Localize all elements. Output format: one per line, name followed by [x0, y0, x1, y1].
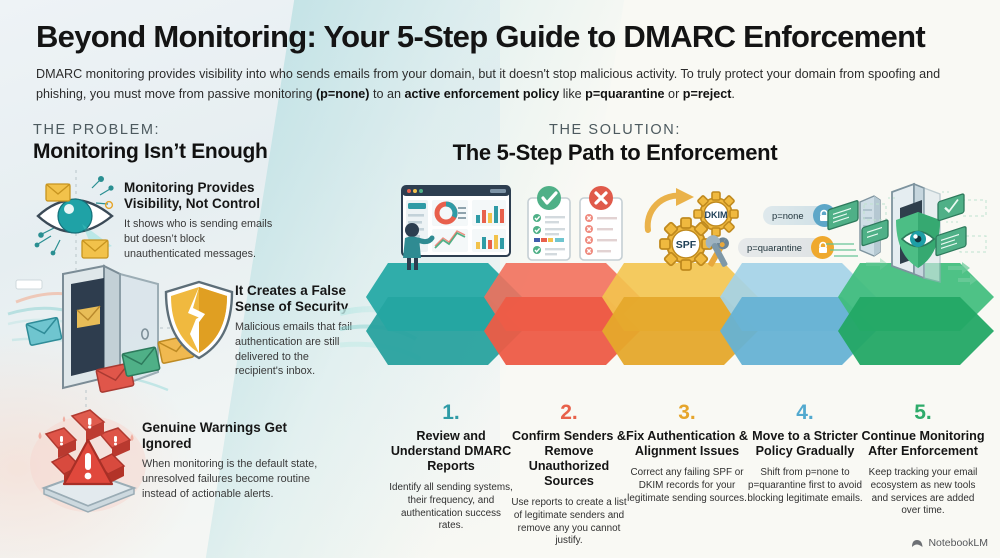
step-2-title: Confirm Senders & Remove Unauthorized So… — [507, 429, 631, 489]
shield-eye-gateway-icon — [862, 178, 994, 286]
page-subtitle: DMARC monitoring provides visibility int… — [36, 65, 966, 104]
header: Beyond Monitoring: Your 5-Step Guide to … — [36, 20, 966, 104]
problem-item-2-title: It Creates a False Sense of Security — [235, 283, 355, 316]
step-4: 4. Move to a Stricter Policy Gradually S… — [743, 402, 867, 505]
infographic-canvas: Beyond Monitoring: Your 5-Step Guide to … — [0, 0, 1000, 558]
step-2-desc: Use reports to create a list of legitima… — [507, 497, 631, 548]
step-1-title: Review and Understand DMARC Reports — [389, 429, 513, 474]
page-title: Beyond Monitoring: Your 5-Step Guide to … — [36, 20, 966, 54]
step-5: 5. Continue Monitoring After Enforcement… — [861, 402, 985, 518]
analytics-dashboard-icon — [390, 180, 512, 270]
step-3-title: Fix Authentication & Alignment Issues — [625, 429, 749, 459]
problem-item-3-title: Genuine Warnings Get Ignored — [142, 420, 322, 453]
gear-label-spf: SPF — [676, 239, 697, 251]
step-3-desc: Correct any failing SPF or DKIM records … — [625, 467, 749, 505]
policy-tag-p-none: p=none — [763, 206, 828, 225]
solution-title: The 5-Step Path to Enforcement — [453, 140, 778, 166]
notebooklm-logo-icon — [911, 538, 924, 549]
step-5-desc: Keep tracking your email ecosystem as ne… — [861, 467, 985, 518]
spf-dkim-gears-icon: DKIM SPF — [638, 180, 750, 276]
solution-kicker: THE SOLUTION: — [453, 122, 778, 138]
policy-tag-p-quarantine: p=quarantine — [738, 238, 826, 257]
problem-item-1: Monitoring Provides Visibility, Not Cont… — [124, 180, 284, 261]
step-1-number: 1. — [389, 402, 513, 423]
step-2: 2. Confirm Senders & Remove Unauthorized… — [507, 402, 631, 548]
warning-triangle-icon — [28, 402, 148, 514]
problem-kicker: THE PROBLEM: — [33, 122, 268, 138]
step-3-number: 3. — [625, 402, 749, 423]
step-4-title: Move to a Stricter Policy Gradually — [743, 429, 867, 459]
problem-item-3-body: When monitoring is the default state, un… — [142, 457, 322, 501]
problem-item-2-body: Malicious emails that fail authenticatio… — [235, 320, 355, 379]
eye-icon — [20, 168, 128, 274]
policy-tag-p-none-label: p=none — [772, 210, 804, 221]
notebooklm-label: NotebookLM — [928, 537, 988, 549]
step-1: 1. Review and Understand DMARC Reports I… — [389, 402, 513, 533]
step-4-desc: Shift from p=none to p=quarantine first … — [743, 467, 867, 505]
solution-section-header: THE SOLUTION: The 5-Step Path to Enforce… — [453, 122, 778, 166]
policy-tag-p-quarantine-label: p=quarantine — [747, 242, 802, 253]
problem-item-2: It Creates a False Sense of Security Mal… — [235, 283, 355, 379]
problem-item-1-title: Monitoring Provides Visibility, Not Cont… — [124, 180, 284, 213]
step-5-number: 5. — [861, 402, 985, 423]
step-3: 3. Fix Authentication & Alignment Issues… — [625, 402, 749, 505]
approved-rejected-clipboards-icon — [524, 186, 630, 268]
problem-section-header: THE PROBLEM: Monitoring Isn’t Enough — [33, 122, 268, 164]
problem-item-3: Genuine Warnings Get Ignored When monito… — [142, 420, 322, 501]
broken-shield-icon — [160, 278, 238, 364]
step-5-title: Continue Monitoring After Enforcement — [861, 429, 985, 459]
step-1-desc: Identify all sending systems, their freq… — [389, 482, 513, 533]
step-4-number: 4. — [743, 402, 867, 423]
notebooklm-watermark: NotebookLM — [911, 537, 988, 549]
problem-item-1-body: It shows who is sending emails but doesn… — [124, 217, 284, 261]
problem-title: Monitoring Isn’t Enough — [33, 140, 268, 164]
step-2-number: 2. — [507, 402, 631, 423]
gear-label-dkim: DKIM — [705, 210, 728, 220]
